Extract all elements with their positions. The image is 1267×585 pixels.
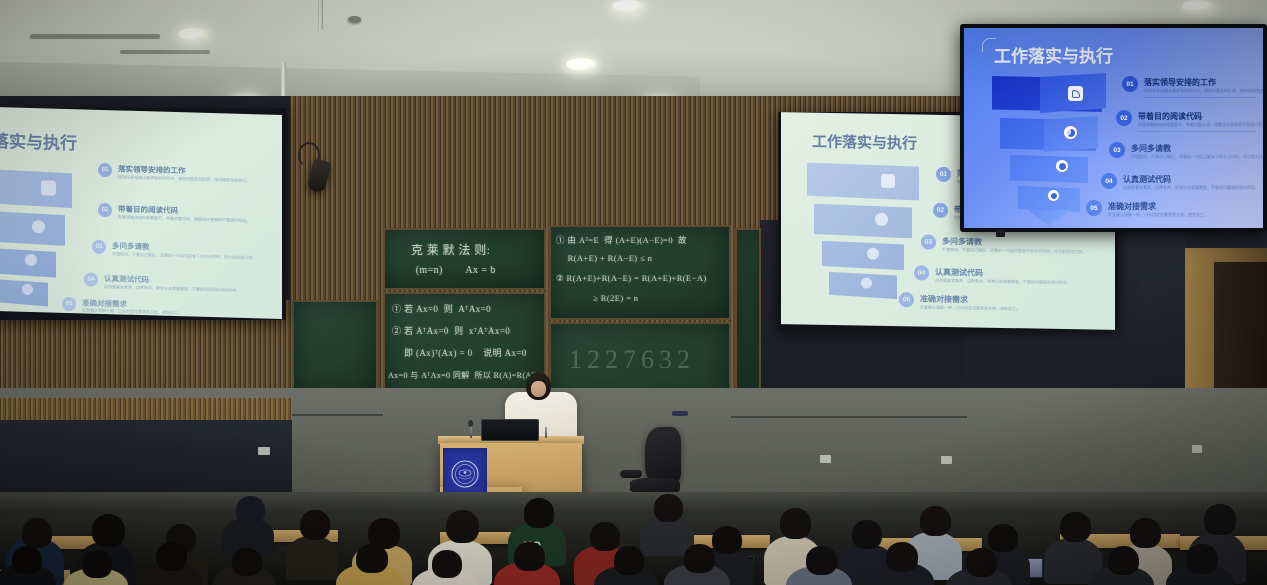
list-badge: 05 bbox=[62, 297, 76, 311]
list-badge: 04 bbox=[1101, 173, 1117, 189]
ceiling-light bbox=[178, 28, 208, 41]
student-head bbox=[1204, 504, 1236, 535]
student-head bbox=[446, 510, 479, 543]
list-subtext: 接到任务先确认需求和时间节点，遇到问题及时反馈，按时按质完成交付。 bbox=[1144, 88, 1263, 94]
student-head bbox=[1108, 546, 1139, 575]
student-head bbox=[806, 546, 837, 575]
ceiling-slot bbox=[30, 34, 160, 39]
list-subtext: 反复确认理解一致，口头约定也要落到文档，避免返工。 bbox=[82, 307, 182, 316]
student-head bbox=[1186, 544, 1218, 574]
slide-title: 工作落实与执行 bbox=[994, 42, 1113, 67]
lecturer-face bbox=[531, 381, 546, 397]
list-heading: 认真测试代码 bbox=[1123, 174, 1171, 185]
funnel-layer bbox=[814, 204, 912, 239]
target-icon bbox=[22, 284, 33, 295]
floor-marker bbox=[1192, 445, 1202, 453]
chalk-faint-digits: 1227632 bbox=[569, 342, 695, 378]
target-icon bbox=[861, 277, 872, 288]
list-subtext: 先理清整体结构再看细节，带着问题去读，理解设计意图而不是逐行死记。 bbox=[1138, 122, 1263, 128]
pencil-icon bbox=[1068, 86, 1083, 101]
student-head bbox=[920, 506, 951, 536]
list-heading: 带着目的阅读代码 bbox=[1138, 111, 1202, 122]
student-head bbox=[684, 544, 715, 573]
list-heading: 多问多请教 bbox=[942, 236, 982, 248]
list-badge: 02 bbox=[1116, 110, 1132, 126]
list-heading: 多问多请教 bbox=[1131, 143, 1171, 154]
gear-icon bbox=[1056, 160, 1068, 172]
pie-chart-icon bbox=[1064, 126, 1077, 139]
projection-screen-left: 工作落实与执行 01 落实领导安排的工作 接到任务先确认需求和时间节点，遇到问题… bbox=[0, 108, 286, 320]
slide-title: 工作落实与执行 bbox=[0, 126, 77, 154]
desk-shadow-row bbox=[0, 492, 1267, 514]
list-subtext: 反复确认理解一致，口头约定也要落到文档，避免返工。 bbox=[1108, 212, 1208, 218]
student-head bbox=[22, 518, 52, 548]
student-head bbox=[524, 498, 554, 528]
blackboard-panel bbox=[292, 300, 378, 398]
chart-icon bbox=[32, 220, 45, 233]
list-badge: 03 bbox=[92, 240, 106, 254]
student-head bbox=[514, 542, 545, 571]
student-head-cap bbox=[236, 496, 265, 524]
list-heading: 落实领导安排的工作 bbox=[1144, 77, 1216, 88]
pencil-icon bbox=[881, 174, 895, 188]
slide-title: 工作落实与执行 bbox=[812, 131, 917, 154]
office-chair-arm bbox=[620, 470, 642, 478]
lecturer-laptop[interactable] bbox=[481, 419, 539, 441]
student-head bbox=[966, 548, 997, 577]
list-divider bbox=[1144, 97, 1256, 98]
blackboard-panel: ① 由 A²=E 得 (A+E)(A−E)=0 故 R(A+E) + R(A−E… bbox=[549, 225, 731, 320]
chalk-text: 克 莱 默 法 则: bbox=[411, 242, 490, 259]
student-head bbox=[356, 544, 388, 573]
gear-icon bbox=[25, 254, 37, 266]
list-badge: 05 bbox=[899, 292, 914, 307]
chalk-text: R(A+E) + R(A−E) ≤ n bbox=[560, 253, 652, 265]
corner-accent-icon bbox=[982, 38, 996, 52]
list-subtext: 自测是基本素养，边界条件、异常分支都要覆盖，不要把问题留给测试同学。 bbox=[104, 284, 240, 294]
list-badge: 05 bbox=[1086, 200, 1102, 216]
floor-marker bbox=[258, 447, 270, 455]
list-subtext: 接到任务先确认需求和时间节点，遇到问题及时反馈，按时按质完成交付。 bbox=[118, 174, 250, 184]
list-subtext: 反复确认理解一致，口头约定也要落到文档，避免返工。 bbox=[920, 305, 1020, 313]
student-body bbox=[286, 536, 338, 580]
student-head bbox=[92, 514, 125, 547]
list-subtext: 不懂就问，不要自己硬扛，同事的一句话可能省下你半天时间，问之前先自己想。 bbox=[112, 251, 256, 261]
funnel-layer bbox=[0, 168, 72, 208]
student-head bbox=[614, 546, 644, 575]
microphone-stand bbox=[545, 427, 547, 438]
list-badge: 03 bbox=[921, 235, 936, 250]
slide-left: 工作落实与执行 01 落实领导安排的工作 接到任务先确认需求和时间节点，遇到问题… bbox=[0, 107, 282, 319]
student-head bbox=[232, 548, 262, 576]
seal-icon bbox=[449, 458, 481, 490]
chalk-text: ① 若 Ax=0 则 AᵀAx=0 bbox=[392, 303, 491, 315]
target-icon bbox=[1048, 190, 1059, 201]
student-head bbox=[82, 550, 112, 578]
chalk-text: ≥ R(2E) = n bbox=[573, 293, 638, 305]
stage-front bbox=[0, 420, 292, 496]
pencil-icon bbox=[41, 180, 56, 195]
list-badge: 01 bbox=[98, 163, 112, 177]
list-subtext: 自测是基本素养，边界条件、异常分支都要覆盖，不要把问题留给测试同学。 bbox=[1123, 185, 1259, 191]
gear-icon bbox=[867, 248, 879, 260]
chalk-text: 即 (Ax)ᵀ(Ax) = 0 说明 Ax=0 bbox=[396, 347, 527, 359]
funnel-layer bbox=[807, 163, 919, 201]
blackboard-panel bbox=[735, 228, 761, 414]
student-head bbox=[300, 510, 330, 540]
lecture-hall-photo: 克 莱 默 法 则: (m=n) Ax = b ① 若 Ax=0 则 AᵀAx=… bbox=[0, 0, 1267, 585]
list-badge: 03 bbox=[1109, 142, 1125, 158]
list-badge: 02 bbox=[933, 203, 948, 218]
list-subtext: 不懂就问，不要自己硬扛，同事的一句话可能省下你半天时间，问之前先自己想。 bbox=[1131, 154, 1263, 160]
list-badge: 01 bbox=[1122, 76, 1138, 92]
ceiling-slot bbox=[120, 50, 210, 54]
ceiling-light bbox=[566, 58, 597, 71]
funnel-layer bbox=[822, 241, 904, 270]
smoke-detector-icon bbox=[348, 16, 361, 23]
list-badge: 04 bbox=[914, 265, 929, 280]
student-head bbox=[712, 526, 742, 554]
chalk-text: (m=n) Ax = b bbox=[407, 264, 496, 278]
student-head bbox=[590, 522, 620, 551]
blackboard-panel: 克 莱 默 法 则: (m=n) Ax = b bbox=[383, 228, 546, 290]
student-head bbox=[886, 542, 918, 572]
audience-area: YO bbox=[0, 492, 1267, 585]
projector-pole bbox=[318, 0, 323, 30]
student-head bbox=[156, 542, 187, 571]
list-badge: 02 bbox=[98, 203, 112, 217]
chalk-text: Ax=0 与 AᵀAx=0 同解 所以 R(A)=R(AᵀA) bbox=[388, 370, 544, 381]
student-head bbox=[780, 508, 811, 539]
funnel-layer bbox=[1010, 155, 1088, 183]
led-panel-mount bbox=[996, 230, 1005, 237]
stage-skirt bbox=[0, 398, 292, 420]
floor-marker bbox=[941, 456, 952, 464]
led-display-panel: 工作落实与执行 01 落实领 bbox=[960, 24, 1267, 232]
student-head bbox=[1060, 512, 1091, 542]
list-heading: 认真测试代码 bbox=[935, 267, 983, 279]
list-subtext: 不懂就问，不要自己硬扛，同事的一句话可能省下你半天时间，问之前先自己想。 bbox=[942, 247, 1086, 256]
student-head bbox=[1130, 518, 1161, 548]
chalk-text: ② 若 AᵀAx=0 则 xᵀAᵀAx=0 bbox=[392, 325, 510, 337]
office-chair-back[interactable] bbox=[645, 427, 681, 483]
floor-marker bbox=[820, 455, 831, 463]
chart-icon bbox=[875, 213, 888, 226]
slide-led: 工作落实与执行 01 落实领 bbox=[964, 28, 1263, 228]
student-head bbox=[654, 494, 683, 522]
list-badge: 01 bbox=[936, 167, 951, 182]
list-subtext: 自测是基本素养，边界条件、异常分支都要覆盖，不要把问题留给测试同学。 bbox=[935, 278, 1071, 286]
funnel-tip bbox=[1028, 210, 1070, 226]
student-head bbox=[852, 520, 882, 549]
chalk-text: ① 由 A²=E 得 (A+E)(A−E)=0 故 bbox=[556, 235, 687, 247]
list-heading: 准确对接需求 bbox=[920, 294, 968, 306]
ceiling-light bbox=[612, 0, 644, 13]
microphone-icon bbox=[468, 420, 473, 427]
student-head bbox=[12, 546, 42, 574]
student-head bbox=[432, 550, 462, 578]
ceiling-light bbox=[1182, 0, 1214, 12]
floor-edge bbox=[731, 416, 967, 418]
desk-object bbox=[672, 411, 688, 416]
student-head bbox=[988, 524, 1018, 552]
list-badge: 04 bbox=[84, 272, 98, 286]
list-heading: 准确对接需求 bbox=[1108, 201, 1156, 212]
list-subtext: 先理清整体结构再看细节，带着问题去读，理解设计意图而不是逐行死记。 bbox=[118, 214, 250, 224]
list-divider bbox=[1138, 131, 1256, 132]
chalk-text: ② R(A+E)+R(A−E) = R(A+E)+R(E−A) bbox=[556, 273, 707, 285]
